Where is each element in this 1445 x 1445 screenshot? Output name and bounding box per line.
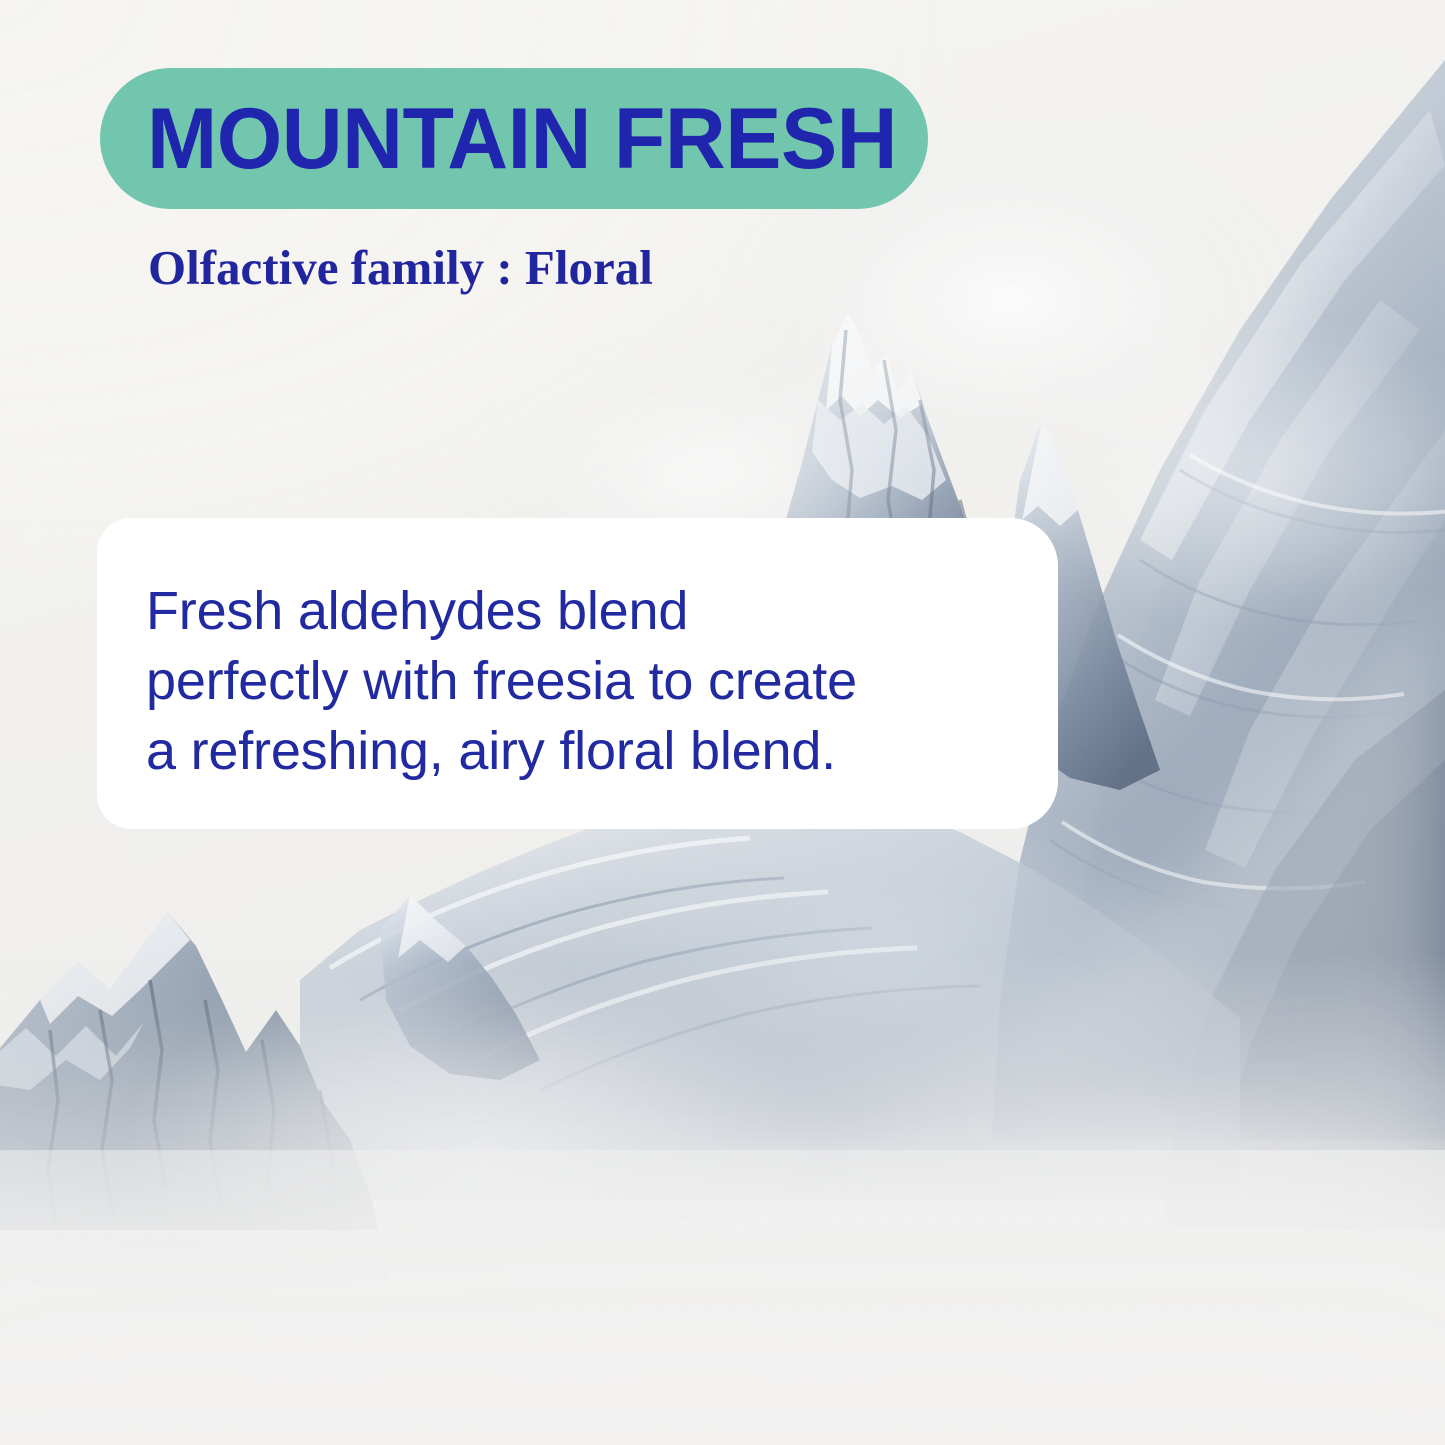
description-card: Fresh aldehydes blend perfectly with fre… <box>97 518 1058 829</box>
mountain-fresh-title-badge: MOUNTAIN FRESH <box>100 68 928 209</box>
product-title: MOUNTAIN FRESH <box>147 96 897 182</box>
olfactive-family-line: Olfactive family : Floral <box>148 243 653 292</box>
description-text: Fresh aldehydes blend perfectly with fre… <box>146 576 1002 787</box>
product-fragrance-card: MOUNTAIN FRESH Olfactive family : Floral… <box>0 0 1445 1445</box>
